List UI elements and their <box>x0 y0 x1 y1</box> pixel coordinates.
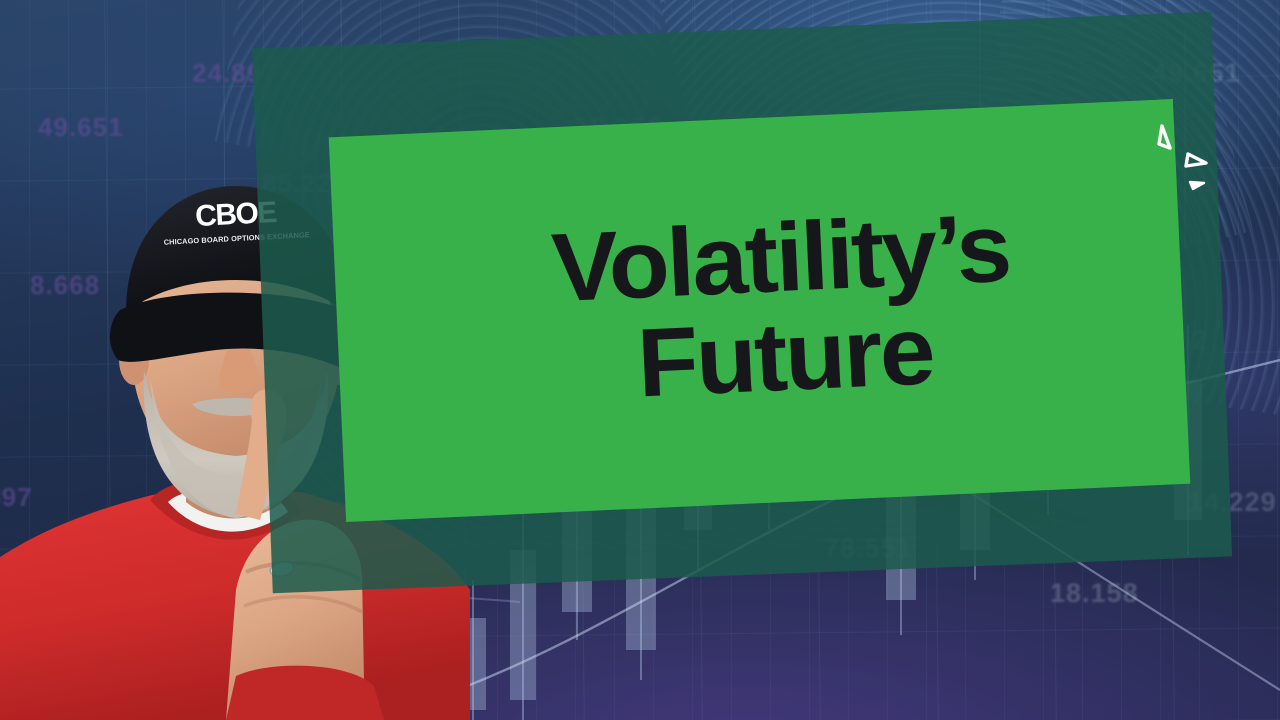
page-title-line-1: Volatility’s <box>550 198 1012 318</box>
sparkle-marks <box>1148 118 1238 208</box>
sparkle-triangle-2 <box>1186 154 1206 166</box>
background-number: 18.158 <box>1050 578 1139 609</box>
sparkle-triangle-3 <box>1190 182 1204 189</box>
thumbnail-canvas: 24.89749.65185.2248.668.89718.15849.6516… <box>0 0 1280 720</box>
page-title: Volatility’sFuture <box>503 198 1017 423</box>
title-green-panel: Volatility’sFuture <box>329 99 1191 522</box>
sparkle-triangle-1 <box>1159 126 1170 148</box>
